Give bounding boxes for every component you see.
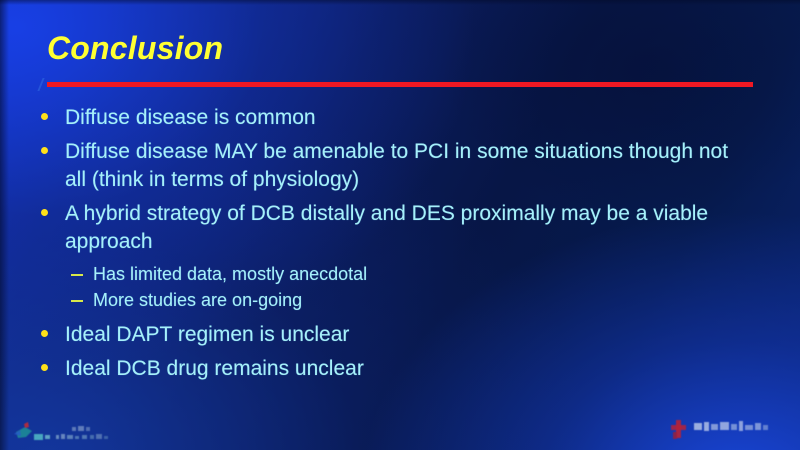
sub-list-item: Has limited data, mostly anecdotal [0, 262, 800, 287]
sub-list-item-label: Has limited data, mostly anecdotal [93, 262, 742, 287]
list-item-label: Diffuse disease is common [65, 104, 742, 132]
list-item: Diffuse disease is common [0, 104, 800, 132]
presentation-slide: Conclusion Diffuse disease is common Dif… [0, 0, 800, 450]
bullet-list: Diffuse disease is common Diffuse diseas… [0, 104, 800, 389]
sub-list-item-label: More studies are on-going [93, 288, 742, 313]
list-item-label: Ideal DCB drug remains unclear [65, 355, 742, 383]
bullet-dot-icon [41, 364, 48, 371]
page-title: Conclusion [47, 30, 223, 67]
sponsor-logo [668, 418, 786, 440]
list-item-label: A hybrid strategy of DCB distally and DE… [65, 200, 742, 256]
bullet-dot-icon [41, 147, 48, 154]
bullet-dot-icon [41, 209, 48, 216]
bullet-dash-icon [71, 300, 83, 302]
list-item: Ideal DAPT regimen is unclear [0, 321, 800, 349]
title-underline [40, 78, 755, 92]
conference-logo [12, 418, 130, 444]
list-item: Diffuse disease MAY be amenable to PCI i… [0, 138, 800, 194]
sub-list-item: More studies are on-going [0, 288, 800, 313]
list-item: A hybrid strategy of DCB distally and DE… [0, 200, 800, 256]
list-item: Ideal DCB drug remains unclear [0, 355, 800, 383]
bullet-dash-icon [71, 274, 83, 276]
slide-top-edge-shading [0, 0, 800, 5]
bullet-dot-icon [41, 113, 48, 120]
list-item-label: Ideal DAPT regimen is unclear [65, 321, 742, 349]
bullet-dot-icon [41, 330, 48, 337]
title-underline-bar [47, 82, 753, 87]
list-item-label: Diffuse disease MAY be amenable to PCI i… [65, 138, 742, 194]
